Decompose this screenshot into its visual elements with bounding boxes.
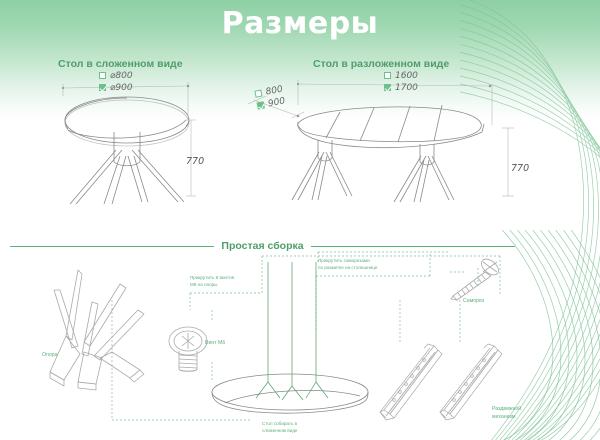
option-row[interactable]: 1600 <box>384 70 418 81</box>
infographic-page: Размеры Стол в сложенном виде ⌀800 ⌀90 <box>0 0 600 440</box>
unfolded-table-drawing <box>262 92 512 204</box>
slide-rail-icon <box>372 342 507 427</box>
option-label: 1700 <box>395 83 418 93</box>
checkbox-unchecked-icon[interactable] <box>254 90 262 98</box>
option-label: ⌀900 <box>110 83 133 93</box>
option-group-folded-diameter: ⌀800 ⌀900 <box>99 70 133 94</box>
checkbox-checked-icon[interactable] <box>257 101 265 109</box>
page-title: Размеры <box>0 6 600 41</box>
part-label-vint: Винт М6 <box>205 340 225 348</box>
divider-left <box>10 246 214 247</box>
part-label-mech: Раздвижной механизм <box>492 406 521 422</box>
option-label: 900 <box>267 96 286 109</box>
section-heading-folded: Стол в сложенном виде <box>58 58 183 70</box>
assembly-note-selftap: Прикрутить саморезами по разметке на сто… <box>318 258 377 272</box>
folded-table-drawing <box>44 84 254 204</box>
option-group-unfolded-length: 1600 1700 <box>384 70 418 94</box>
table-leg-icon <box>20 262 180 392</box>
assembly-section-header: Простая сборка <box>0 238 600 254</box>
tabletop-drawing <box>205 370 375 422</box>
option-label: 1600 <box>395 71 418 81</box>
assembly-note-folded: Стол собирать в сложенном виде <box>262 421 297 435</box>
checkbox-unchecked-icon[interactable] <box>384 72 391 79</box>
assembly-note-screws: Прикрутить 8 винтов М6 на опоры <box>190 275 234 289</box>
checkbox-checked-icon[interactable] <box>99 84 106 91</box>
assembly-heading: Простая сборка <box>221 240 303 252</box>
folded-height-dimension-label: 770 <box>186 156 204 167</box>
divider-right <box>311 246 515 247</box>
option-row[interactable]: ⌀800 <box>99 70 133 81</box>
unfolded-height-dimension-label: 770 <box>511 163 529 174</box>
part-label-opora: Опора <box>42 352 58 360</box>
option-label: ⌀800 <box>110 71 133 81</box>
section-heading-unfolded: Стол в разложенном виде <box>313 58 449 70</box>
part-label-samorez: Саморез <box>463 298 484 306</box>
bolt-icon <box>163 323 219 375</box>
option-row[interactable]: 1700 <box>384 82 418 93</box>
checkbox-checked-icon[interactable] <box>384 84 391 91</box>
option-row[interactable]: ⌀900 <box>99 82 133 93</box>
checkbox-unchecked-icon[interactable] <box>99 72 106 79</box>
